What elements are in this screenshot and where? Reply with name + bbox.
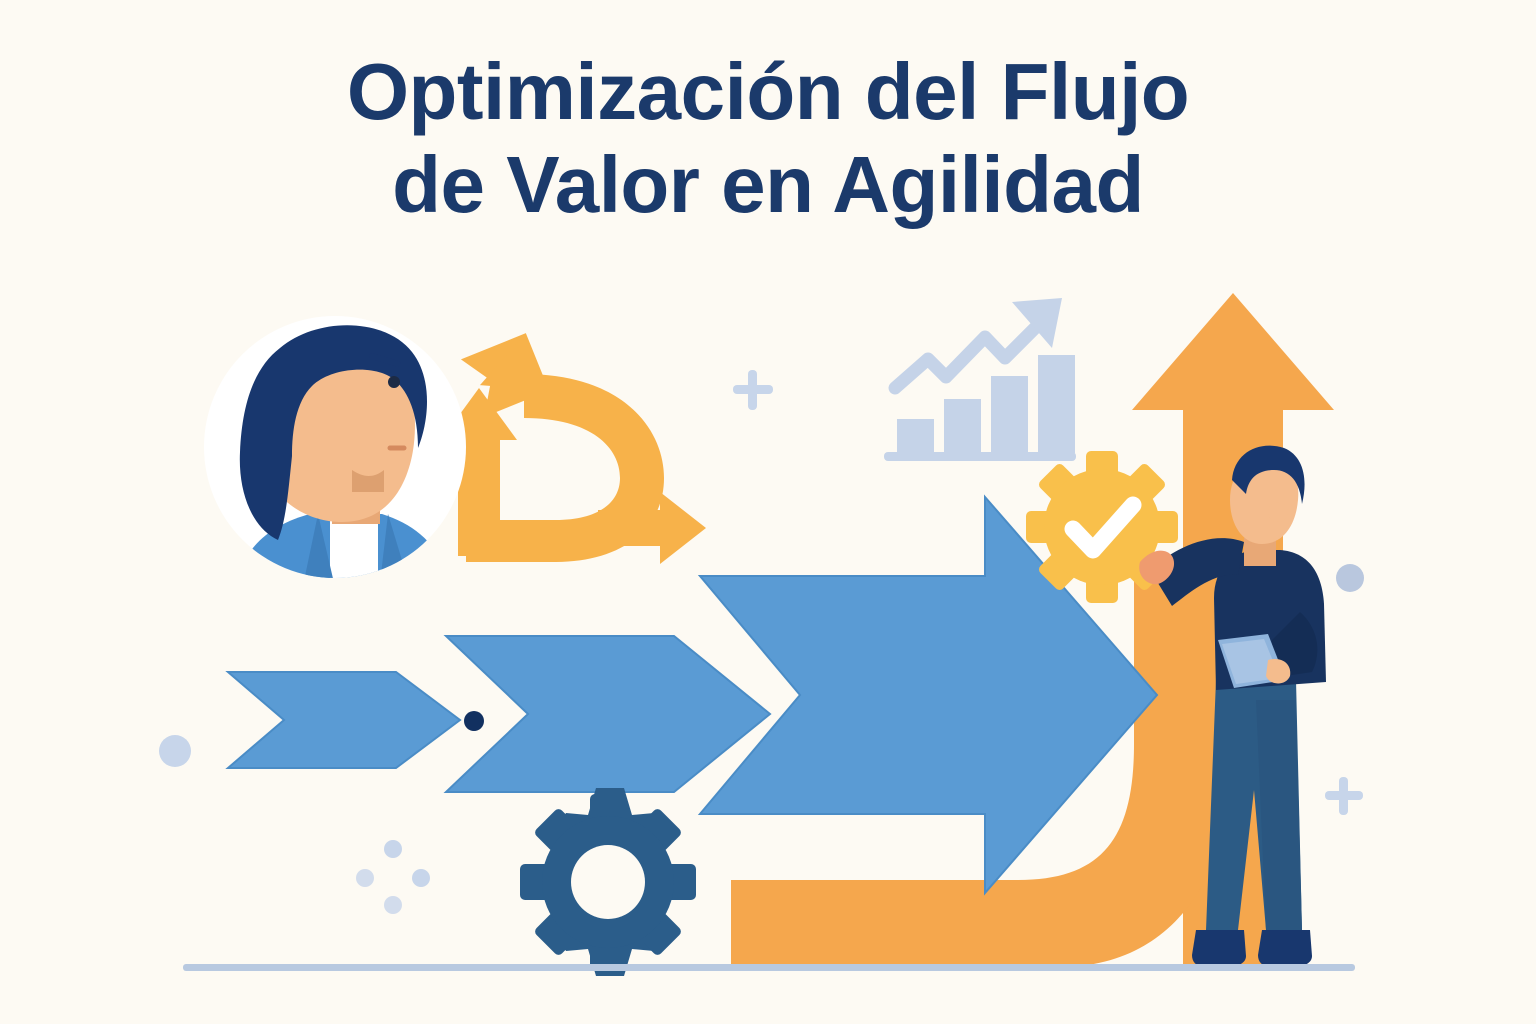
deco-dot-left — [159, 735, 191, 767]
person-shoe-left — [1192, 930, 1246, 966]
gear-bottom-teeth — [520, 794, 696, 970]
chart-bar-2 — [944, 399, 981, 453]
scene-artwork — [0, 0, 1536, 1024]
person-ear — [1268, 502, 1288, 522]
deco-dot-right — [1336, 564, 1364, 592]
connector-dot — [464, 711, 484, 731]
illustration-canvas: Optimización del Flujo de Valor en Agili… — [0, 0, 1536, 1024]
chart-bar-4 — [1038, 355, 1075, 453]
chart-bar-1 — [897, 419, 934, 453]
avatar-eye — [388, 376, 400, 388]
chart-baseline — [884, 452, 1076, 461]
chart-bar-3 — [991, 376, 1028, 453]
ground-line — [183, 964, 1355, 971]
person-shoe-right — [1258, 930, 1312, 966]
